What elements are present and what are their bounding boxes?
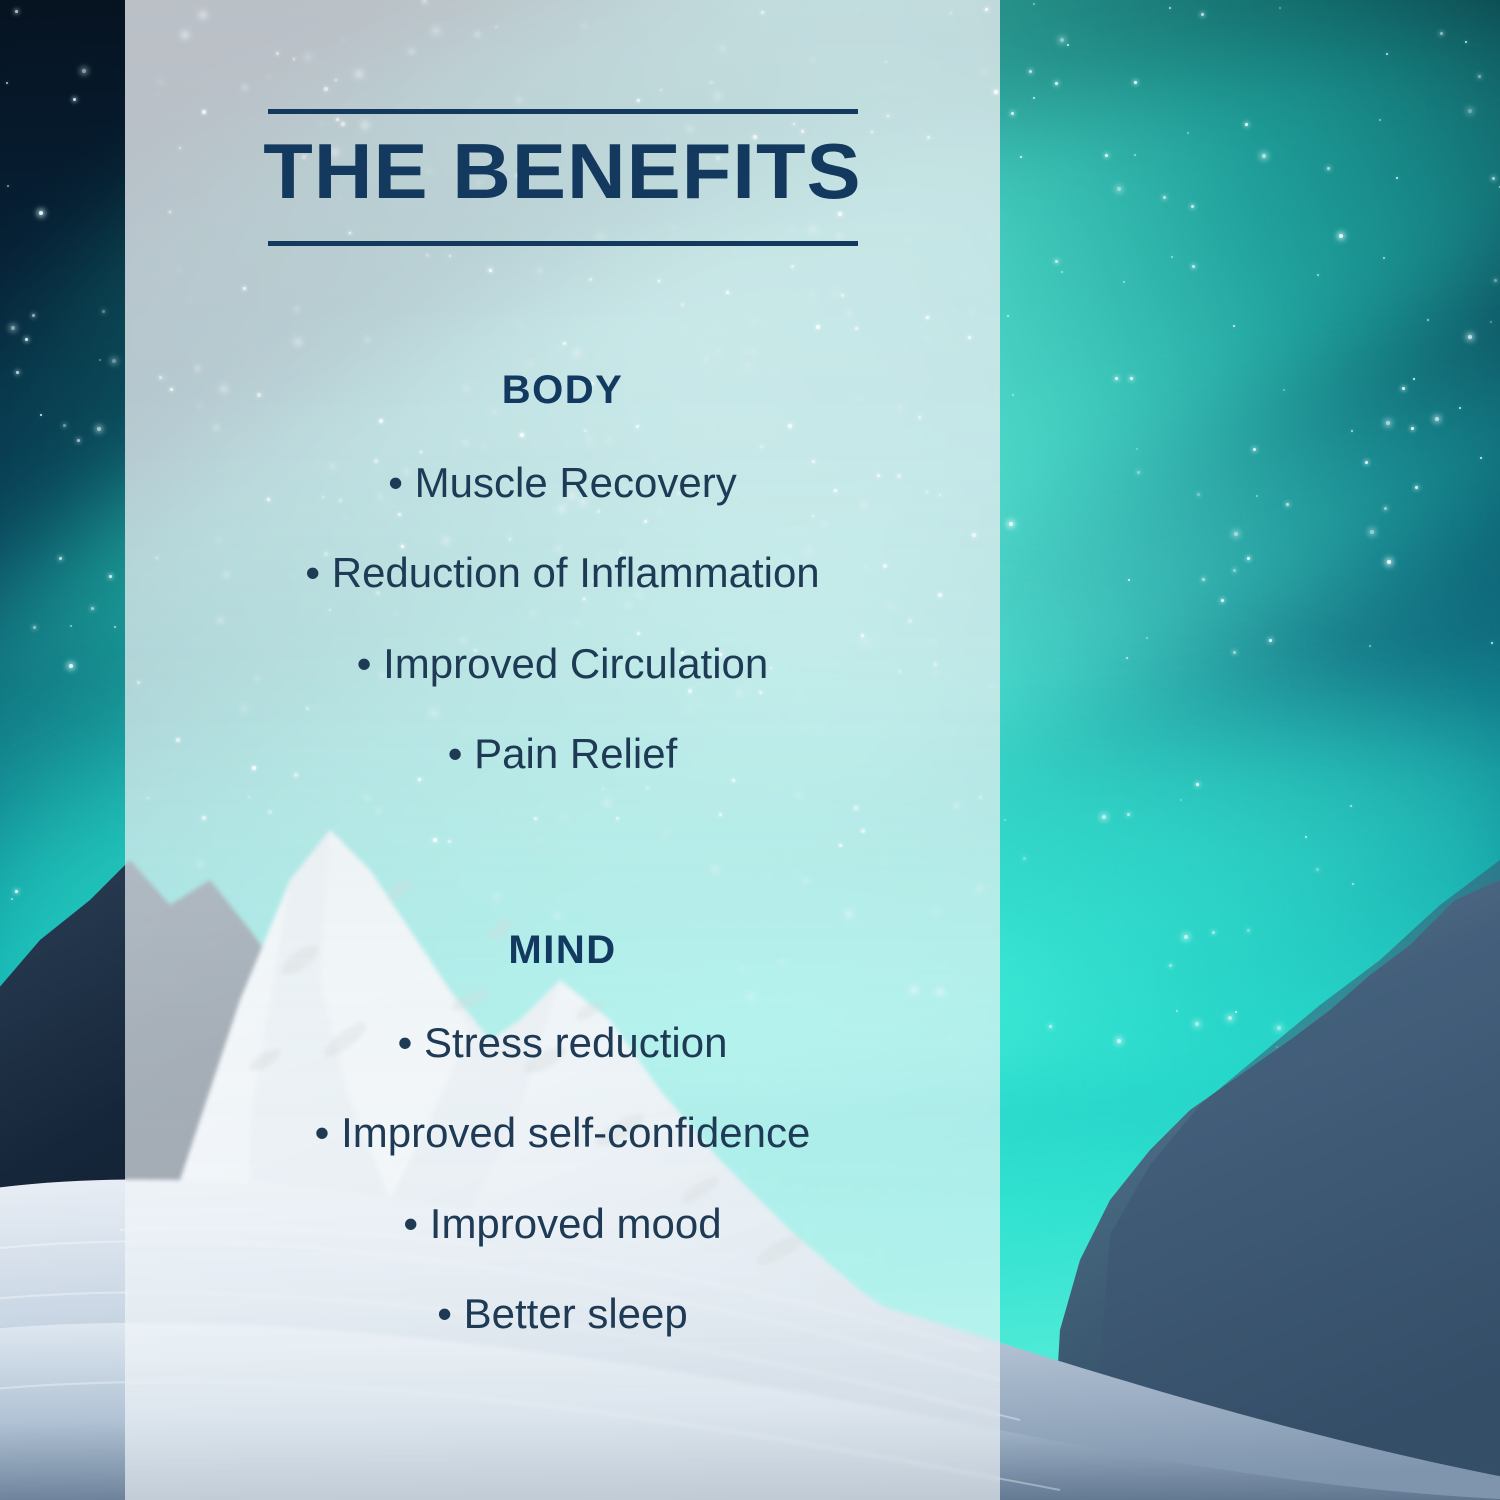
bullet-icon: • (437, 1290, 452, 1338)
bullet-icon: • (403, 1200, 418, 1248)
benefit-label: Better sleep (464, 1290, 688, 1337)
benefit-label: Muscle Recovery (415, 459, 737, 506)
bullet-icon: • (315, 1109, 330, 1157)
benefit-item: • Stress reduction (125, 1019, 1000, 1067)
section-mind: MIND • Stress reduction • Improved self-… (125, 928, 1000, 1338)
benefits-poster: THE BENEFITS BODY • Muscle Recovery • Re… (0, 0, 1500, 1500)
benefit-label: Pain Relief (474, 730, 677, 777)
benefit-label: Stress reduction (424, 1019, 727, 1066)
bullet-icon: • (388, 459, 403, 507)
bullet-icon: • (305, 549, 320, 597)
benefit-label: Reduction of Inflammation (332, 549, 820, 596)
benefit-item: • Improved Circulation (125, 640, 1000, 688)
benefit-item: • Improved mood (125, 1200, 1000, 1248)
benefit-item: • Better sleep (125, 1290, 1000, 1338)
poster-content: THE BENEFITS BODY • Muscle Recovery • Re… (125, 0, 1000, 1500)
benefit-item: • Improved self-confidence (125, 1109, 1000, 1157)
bullet-icon: • (398, 1019, 413, 1067)
benefit-label: Improved self-confidence (341, 1109, 810, 1156)
bullet-icon: • (448, 730, 463, 778)
title-rule-top (268, 109, 858, 114)
page-title: THE BENEFITS (108, 132, 1018, 210)
benefit-item: • Muscle Recovery (125, 459, 1000, 507)
benefit-label: Improved Circulation (383, 640, 768, 687)
bullet-icon: • (357, 640, 372, 688)
section-heading-mind: MIND (125, 928, 1000, 973)
benefit-label: Improved mood (430, 1200, 722, 1247)
title-rule-bottom (268, 241, 858, 246)
section-heading-body: BODY (125, 368, 1000, 413)
benefit-item: • Pain Relief (125, 730, 1000, 778)
section-body: BODY • Muscle Recovery • Reduction of In… (125, 368, 1000, 778)
benefit-item: • Reduction of Inflammation (125, 549, 1000, 597)
